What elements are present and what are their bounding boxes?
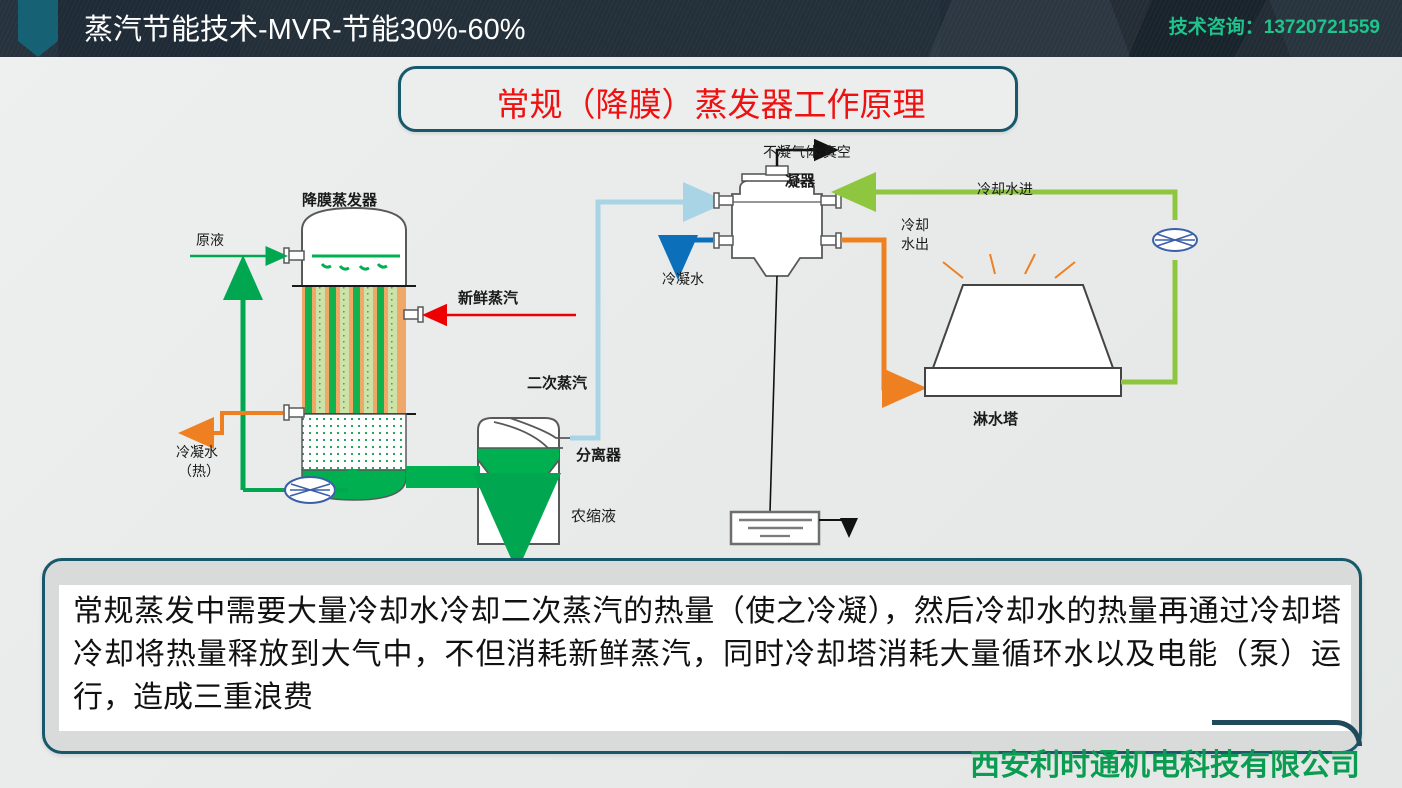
circulation-pump-symbol — [285, 477, 335, 503]
diagram-svg — [0, 130, 1402, 560]
description-inner: 常规蒸发中需要大量冷却水冷却二次蒸汽的热量（使之冷凝），然后冷却水的热量再通过冷… — [59, 585, 1351, 731]
label-condenser: 凝器 — [785, 173, 815, 191]
cooling-water-pump-symbol — [1153, 229, 1197, 251]
label-secondary-steam: 二次蒸汽 — [527, 375, 587, 393]
label-concentrate: 农缩液 — [571, 508, 616, 526]
description-box: 常规蒸发中需要大量冷却水冷却二次蒸汽的热量（使之冷凝），然后冷却水的热量再通过冷… — [42, 558, 1362, 754]
company-name: 西安利时通机电科技有限公司 — [970, 740, 1360, 784]
evaporator-sump — [302, 414, 406, 470]
description-text: 常规蒸发中需要大量冷却水冷却二次蒸汽的热量（使之冷凝），然后冷却水的热量再通过冷… — [73, 591, 1341, 720]
process-flow-diagram: 降膜蒸发器 原液 新鲜蒸汽 冷凝水 （热） 二次蒸汽 分离器 农缩液 不凝气体/… — [0, 130, 1402, 560]
slide-canvas: 蒸汽节能技术-MVR-节能30%-60% 技术咨询：13720721559 常规… — [0, 0, 1402, 788]
condenser-condensate-line — [678, 240, 713, 270]
evaporator-dome — [302, 208, 406, 286]
label-hot-condensate-line1: 冷凝水 — [176, 445, 218, 462]
cooling-tower — [925, 254, 1121, 396]
slide-title-box: 常规（降膜）蒸发器工作原理 — [398, 66, 1018, 132]
receiver-tank — [731, 512, 849, 544]
label-feed: 原液 — [196, 233, 224, 250]
secondary-steam-line — [570, 202, 718, 438]
cooling-tower-spray-rays — [943, 254, 1075, 278]
label-cooling-water-in: 冷却水进 — [977, 182, 1033, 199]
label-cooling-water-out-line2: 水出 — [901, 237, 929, 254]
condenser-drain-line — [770, 276, 777, 512]
cooling-water-out-line — [841, 240, 917, 388]
label-fresh-steam: 新鲜蒸汽 — [458, 290, 518, 308]
separator-vessel — [478, 418, 570, 544]
evaporator-downcomer — [348, 470, 357, 492]
label-falling-film-evaporator: 降膜蒸发器 — [302, 192, 377, 210]
label-separator: 分离器 — [576, 447, 621, 465]
header-title: 蒸汽节能技术-MVR-节能30%-60% — [84, 6, 526, 48]
label-cooling-water-out-line1: 冷却 — [901, 218, 929, 235]
label-hot-condensate-line2: （热） — [178, 464, 220, 481]
label-condensate: 冷凝水 — [662, 272, 704, 289]
label-cooling-tower: 淋水塔 — [973, 411, 1018, 429]
page-title: 常规（降膜）蒸发器工作原理 — [401, 69, 1021, 135]
label-noncondensable-gas: 不凝气体/真空 — [763, 145, 851, 162]
header-contact-phone: 技术咨询：13720721559 — [1169, 12, 1380, 39]
hot-condensate-line — [186, 413, 283, 433]
separator-feed-duct — [406, 466, 480, 488]
